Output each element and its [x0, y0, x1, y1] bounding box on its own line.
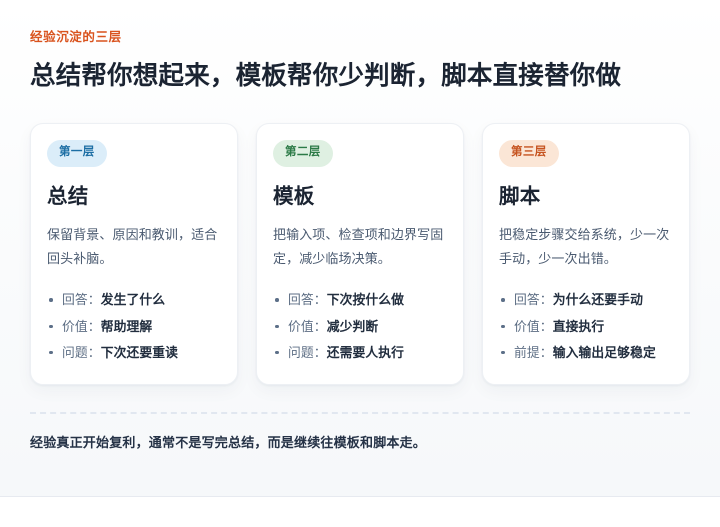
list-item: 回答：下次按什么做 — [273, 287, 447, 313]
cards-row: 第一层 总结 保留背景、原因和教训，适合回头补脑。 回答：发生了什么 价值：帮助… — [30, 123, 690, 385]
list-item-value: 直接执行 — [553, 319, 605, 334]
list-item-key: 回答： — [62, 292, 101, 307]
card-description-layer-one: 保留背景、原因和教训，适合回头补脑。 — [47, 223, 221, 271]
card-title-layer-three: 脚本 — [499, 185, 673, 210]
list-item-value: 帮助理解 — [101, 319, 153, 334]
list-item-value: 为什么还要手动 — [553, 292, 643, 307]
eyebrow-label: 经验沉淀的三层 — [30, 30, 690, 45]
slide-panel: 经验沉淀的三层 总结帮你想起来，模板帮你少判断，脚本直接替你做 第一层 总结 保… — [0, 0, 720, 497]
list-item: 问题：还需要人执行 — [273, 340, 447, 366]
card-description-layer-two: 把输入项、检查项和边界写固定，减少临场决策。 — [273, 223, 447, 271]
card-list-layer-one: 回答：发生了什么 价值：帮助理解 问题：下次还要重读 — [47, 287, 221, 366]
card-title-layer-one: 总结 — [47, 185, 221, 210]
list-item-value: 还需要人执行 — [327, 345, 404, 360]
list-item: 回答：为什么还要手动 — [499, 287, 673, 313]
card-list-layer-three: 回答：为什么还要手动 价值：直接执行 前提：输入输出足够稳定 — [499, 287, 673, 366]
list-item: 问题：下次还要重读 — [47, 340, 221, 366]
list-item-key: 问题： — [288, 345, 327, 360]
list-item-value: 发生了什么 — [101, 292, 165, 307]
list-item: 价值：直接执行 — [499, 314, 673, 340]
list-item-key: 价值： — [288, 319, 327, 334]
footer-note: 经验真正开始复利，通常不是写完总结，而是继续往模板和脚本走。 — [30, 433, 690, 454]
footer-divider — [30, 412, 690, 414]
list-item-value: 减少判断 — [327, 319, 379, 334]
list-item-value: 下次还要重读 — [101, 345, 178, 360]
list-item: 价值：帮助理解 — [47, 314, 221, 340]
card-layer-one[interactable]: 第一层 总结 保留背景、原因和教训，适合回头补脑。 回答：发生了什么 价值：帮助… — [30, 123, 238, 385]
list-item: 前提：输入输出足够稳定 — [499, 340, 673, 366]
list-item-key: 价值： — [514, 319, 553, 334]
badge-layer-one: 第一层 — [47, 140, 107, 167]
list-item-key: 前提： — [514, 345, 553, 360]
list-item-value: 输入输出足够稳定 — [553, 345, 656, 360]
card-list-layer-two: 回答：下次按什么做 价值：减少判断 问题：还需要人执行 — [273, 287, 447, 366]
badge-layer-two: 第二层 — [273, 140, 333, 167]
card-layer-three[interactable]: 第三层 脚本 把稳定步骤交给系统，少一次手动，少一次出错。 回答：为什么还要手动… — [482, 123, 690, 385]
page-title: 总结帮你想起来，模板帮你少判断，脚本直接替你做 — [30, 59, 690, 94]
badge-layer-three: 第三层 — [499, 140, 559, 167]
header-block: 经验沉淀的三层 总结帮你想起来，模板帮你少判断，脚本直接替你做 — [30, 30, 690, 94]
list-item: 价值：减少判断 — [273, 314, 447, 340]
list-item: 回答：发生了什么 — [47, 287, 221, 313]
card-layer-two[interactable]: 第二层 模板 把输入项、检查项和边界写固定，减少临场决策。 回答：下次按什么做 … — [256, 123, 464, 385]
list-item-value: 下次按什么做 — [327, 292, 404, 307]
card-description-layer-three: 把稳定步骤交给系统，少一次手动，少一次出错。 — [499, 223, 673, 271]
list-item-key: 回答： — [288, 292, 327, 307]
list-item-key: 问题： — [62, 345, 101, 360]
list-item-key: 回答： — [514, 292, 553, 307]
list-item-key: 价值： — [62, 319, 101, 334]
card-title-layer-two: 模板 — [273, 185, 447, 210]
